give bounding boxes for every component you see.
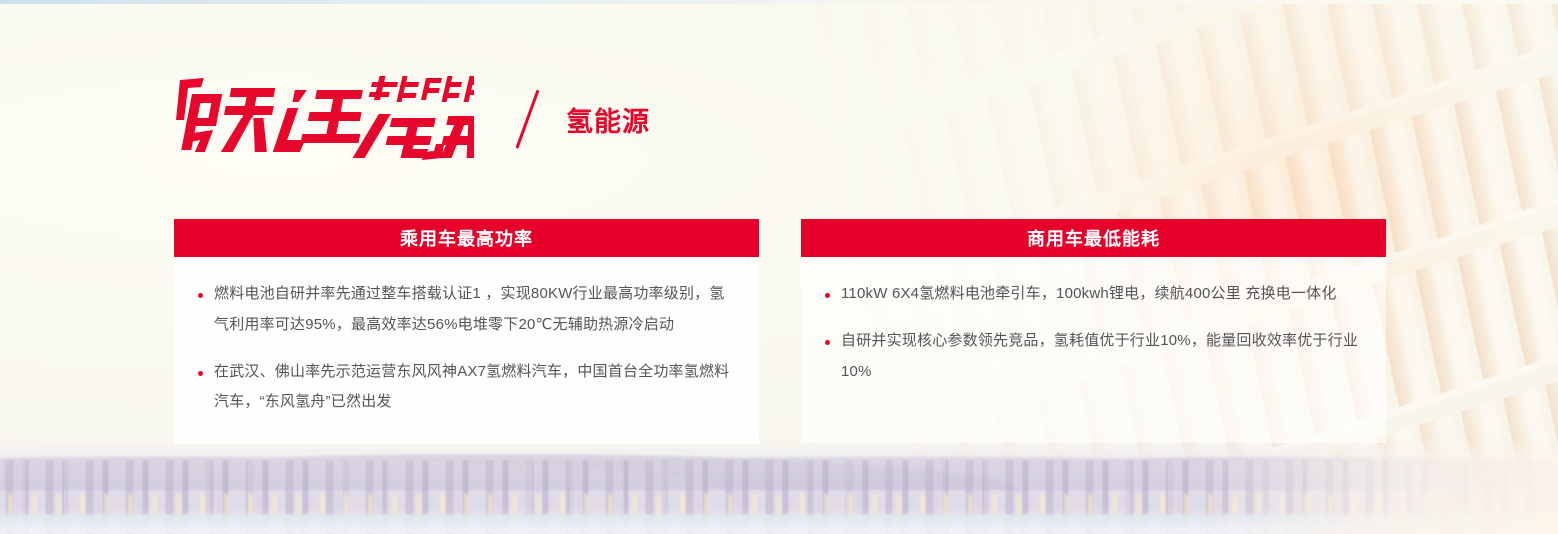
list-item: 110kW 6X4氢燃料电池牵引车，100kwh锂电，续航400公里 充换电一体… xyxy=(821,279,1362,310)
content-cards: 乘用车最高功率 燃料电池自研并率先通过整车搭载认证1 ，实现80KW行业最高功率… xyxy=(174,219,1386,444)
card-title-commercial-vehicle: 商用车最低能耗 xyxy=(801,219,1386,257)
card-passenger-vehicle: 乘用车最高功率 燃料电池自研并率先通过整车搭载认证1 ，实现80KW行业最高功率… xyxy=(174,219,759,444)
bullet-list-commercial-vehicle: 110kW 6X4氢燃料电池牵引车，100kwh锂电，续航400公里 充换电一体… xyxy=(821,279,1362,387)
list-item: 在武汉、佛山率先示范运营东风风神AX7氢燃料汽车，中国首台全功率氢燃料汽车，“东… xyxy=(194,357,735,419)
brand-logo xyxy=(174,74,474,164)
slash-divider-icon xyxy=(500,84,554,154)
city-skyline-image xyxy=(0,438,1558,534)
brand-logo-artwork xyxy=(174,74,474,166)
bullet-list-passenger-vehicle: 燃料电池自研并率先通过整车搭载认证1 ，实现80KW行业最高功率级别，氢气利用率… xyxy=(194,279,735,418)
page-subtitle: 氢能源 xyxy=(566,100,650,139)
card-body-passenger-vehicle: 燃料电池自研并率先通过整车搭载认证1 ，实现80KW行业最高功率级别，氢气利用率… xyxy=(174,257,759,444)
card-title-passenger-vehicle: 乘用车最高功率 xyxy=(174,219,759,257)
card-commercial-vehicle: 商用车最低能耗 110kW 6X4氢燃料电池牵引车，100kwh锂电，续航400… xyxy=(801,219,1386,444)
city-right-fade xyxy=(1198,438,1558,534)
top-edge-strip xyxy=(0,0,1558,4)
card-body-commercial-vehicle: 110kW 6X4氢燃料电池牵引车，100kwh锂电，续航400公里 充换电一体… xyxy=(801,257,1386,443)
list-item: 自研并实现核心参数领先竞品，氢耗值优于行业10%，能量回收效率优于行业10% xyxy=(821,326,1362,388)
list-item: 燃料电池自研并率先通过整车搭载认证1 ，实现80KW行业最高功率级别，氢气利用率… xyxy=(194,279,735,341)
page-header: 氢能源 xyxy=(174,74,650,164)
